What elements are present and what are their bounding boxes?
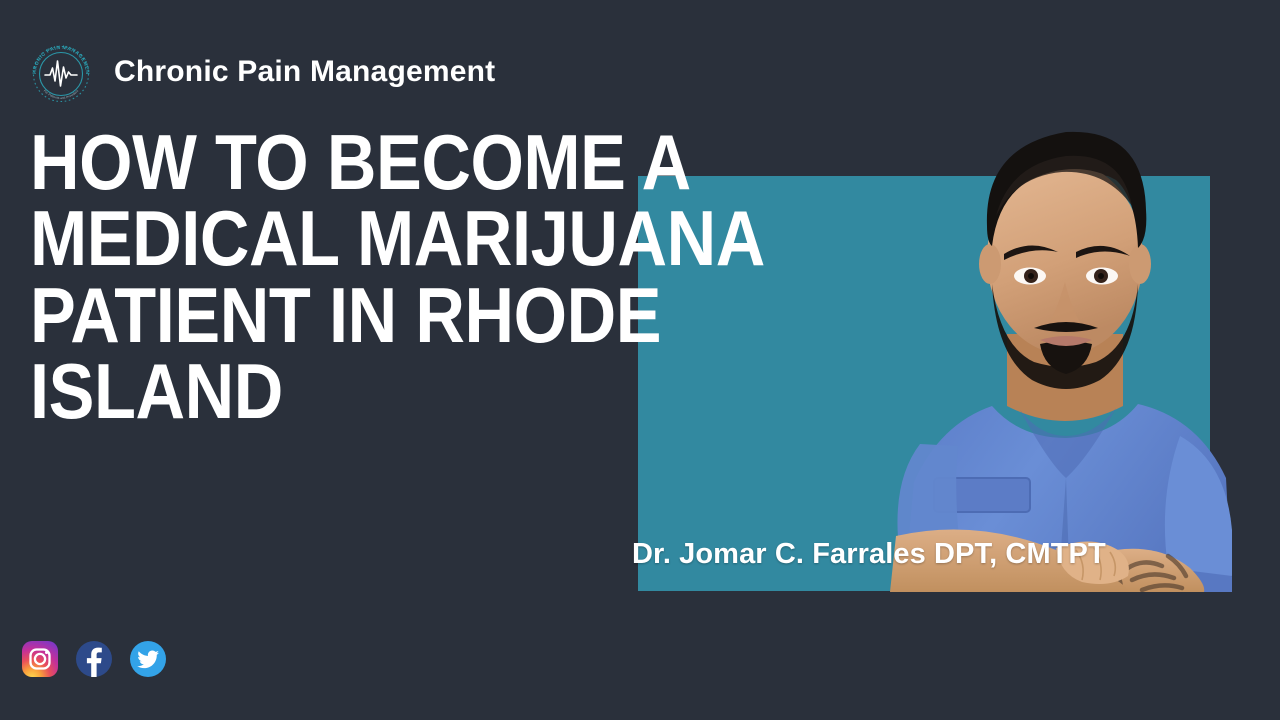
presenter-photo bbox=[880, 106, 1250, 592]
twitter-icon[interactable] bbox=[130, 641, 166, 677]
chronic-pain-management-logo: CHRONIC PAIN MANAGEMENT For Patients and… bbox=[26, 34, 96, 110]
social-links bbox=[22, 641, 166, 677]
slide-headline: HOW TO BECOME A MEDICAL MARIJUANA PATIEN… bbox=[30, 124, 822, 430]
brand-bar: CHRONIC PAIN MANAGEMENT For Patients and… bbox=[26, 34, 495, 110]
brand-title: Chronic Pain Management bbox=[114, 57, 495, 87]
instagram-icon[interactable] bbox=[22, 641, 58, 677]
facebook-icon[interactable] bbox=[76, 641, 112, 677]
presenter-name: Dr. Jomar C. Farrales DPT, CMTPT bbox=[632, 538, 1106, 571]
video-title-slide: CHRONIC PAIN MANAGEMENT For Patients and… bbox=[0, 0, 1280, 720]
